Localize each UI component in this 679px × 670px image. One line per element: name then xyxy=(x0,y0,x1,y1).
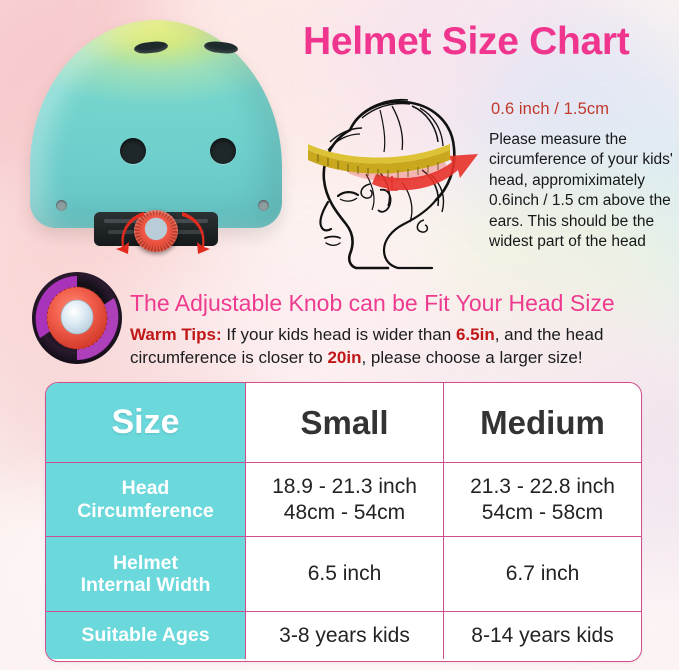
warm-tips-part3: , please choose a larger size! xyxy=(361,348,582,367)
header-medium: Medium xyxy=(444,383,641,462)
header-size-label: Size xyxy=(46,383,246,462)
table-row-head-circumference: Head Circumference 18.9 - 21.3 inch 48cm… xyxy=(46,463,641,537)
row-label-suitable-ages: Suitable Ages xyxy=(46,612,246,659)
cell-line1: 21.3 - 22.8 inch xyxy=(470,474,615,499)
table-row-suitable-ages: Suitable Ages 3-8 years kids 8-14 years … xyxy=(46,612,641,659)
helmet-vent-right xyxy=(204,40,239,54)
cell-line2: 48cm - 54cm xyxy=(272,500,417,525)
warm-tips-part1: If your kids head is wider than xyxy=(222,325,456,344)
cell-line2: 54cm - 58cm xyxy=(470,500,615,525)
cell-medium-internal-width: 6.7 inch xyxy=(444,537,641,611)
helmet-vent-left xyxy=(134,40,169,54)
warm-tips-label: Warm Tips: xyxy=(130,325,222,344)
cell-small-internal-width: 6.5 inch xyxy=(246,537,444,611)
table-header-row: Size Small Medium xyxy=(46,383,641,463)
row-label-line2: Circumference xyxy=(77,500,214,522)
row-label-line1: Head xyxy=(77,477,214,499)
row-label-line2: Internal Width xyxy=(81,574,211,596)
warm-tips-highlight-circ: 20in xyxy=(327,348,361,367)
row-label-internal-width: Helmet Internal Width xyxy=(46,537,246,611)
head-profile-illustration xyxy=(292,78,492,274)
cell-small-suitable-ages: 3-8 years kids xyxy=(246,612,444,659)
helmet-illustration xyxy=(16,14,296,264)
measure-instruction: Please measure the circumference of your… xyxy=(489,130,679,253)
helmet-shell xyxy=(30,20,282,228)
cell-line1: 18.9 - 21.3 inch xyxy=(272,474,417,499)
measure-callout: 0.6 inch / 1.5cm xyxy=(491,100,609,119)
cell-medium-suitable-ages: 8-14 years kids xyxy=(444,612,641,659)
helmet-rivet-left xyxy=(56,200,67,211)
page-title: Helmet Size Chart xyxy=(303,20,630,64)
warm-tips-text: Warm Tips: If your kids head is wider th… xyxy=(130,324,675,370)
helmet-hole-right xyxy=(210,138,236,164)
table-row-internal-width: Helmet Internal Width 6.5 inch 6.7 inch xyxy=(46,537,641,612)
size-chart-table: Size Small Medium Head Circumference 18.… xyxy=(45,382,642,662)
header-small: Small xyxy=(246,383,444,462)
adjustable-knob-headline: The Adjustable Knob can be Fit Your Head… xyxy=(130,290,615,317)
row-label-line1: Helmet xyxy=(81,552,211,574)
cell-medium-head-circumference: 21.3 - 22.8 inch 54cm - 58cm xyxy=(444,463,641,536)
warm-tips-highlight-width: 6.5in xyxy=(456,325,495,344)
row-label-head-circumference: Head Circumference xyxy=(46,463,246,536)
cell-small-head-circumference: 18.9 - 21.3 inch 48cm - 54cm xyxy=(246,463,444,536)
helmet-rivet-right xyxy=(258,200,269,211)
adjustable-knob-closeup xyxy=(30,270,124,366)
helmet-hole-left xyxy=(120,138,146,164)
helmet-size-chart-page: 0.6 inch / 1.5cm Please measure the circ… xyxy=(0,0,679,670)
rotation-arrow-icon xyxy=(110,206,214,264)
